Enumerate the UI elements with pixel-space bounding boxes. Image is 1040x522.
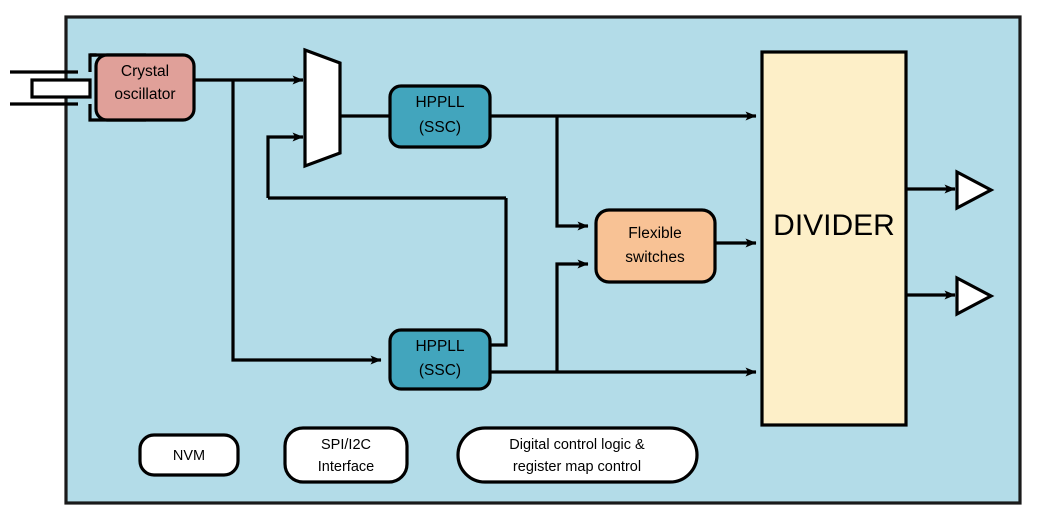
hppll-top-label-line2: (SSC) [419, 119, 461, 136]
divider-block[interactable]: DIVIDER [762, 52, 906, 425]
spi-i2c-interface-block[interactable]: SPI/I2C Interface [285, 428, 407, 482]
flexible-switches-label-line1: Flexible [628, 225, 681, 242]
input-mux[interactable] [305, 50, 340, 166]
crystal-oscillator-label-line2: oscillator [114, 86, 175, 103]
hppll-bottom-label-line1: HPPLL [415, 338, 464, 355]
hppll-top-block[interactable]: HPPLL (SSC) [390, 86, 490, 147]
nvm-label: NVM [173, 448, 205, 464]
hppll-bottom-block[interactable]: HPPLL (SSC) [390, 330, 490, 389]
hppll-bottom-label-line2: (SSC) [419, 362, 461, 379]
flexible-switches-label-line2: switches [625, 249, 685, 266]
diagram-canvas: Crystal oscillator HPPLL (SSC) HPPLL (SS… [0, 0, 1040, 522]
divider-label: DIVIDER [773, 209, 895, 242]
flexible-switches-block[interactable]: Flexible switches [596, 210, 715, 282]
spi-i2c-label-line2: Interface [318, 459, 374, 475]
hppll-top-label-line1: HPPLL [415, 94, 464, 111]
crystal-oscillator-block[interactable]: Crystal oscillator [96, 55, 194, 120]
nvm-block[interactable]: NVM [140, 435, 238, 475]
digital-control-logic-block[interactable]: Digital control logic & register map con… [458, 428, 697, 482]
digital-control-label-line2: register map control [513, 459, 641, 475]
spi-i2c-label-line1: SPI/I2C [321, 437, 371, 453]
crystal-oscillator-label-line1: Crystal [121, 63, 169, 80]
digital-control-label-line1: Digital control logic & [509, 437, 645, 453]
